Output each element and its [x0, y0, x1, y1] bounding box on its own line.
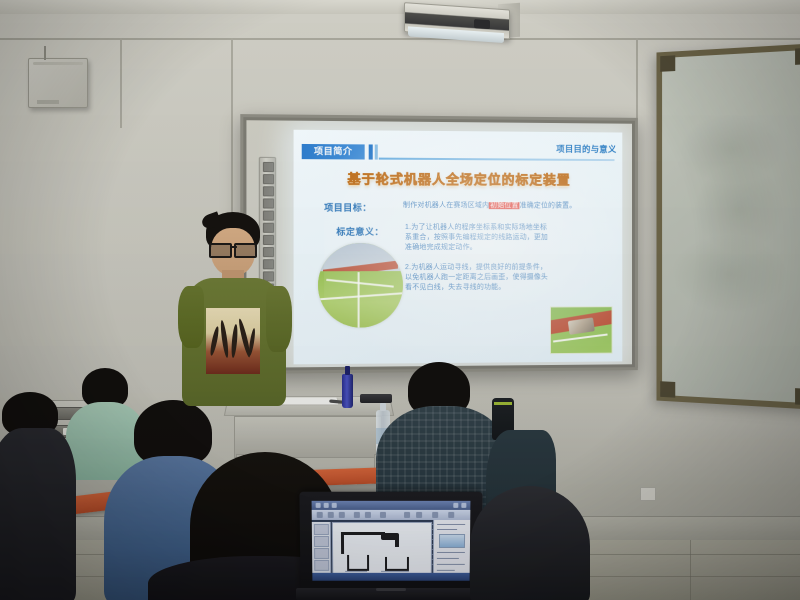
app-title-bar[interactable]: [312, 501, 471, 510]
panel-line: [437, 524, 465, 525]
presenter-right-sleeve: [266, 286, 292, 352]
student-laptop[interactable]: [300, 492, 482, 600]
toolbar-icon[interactable]: [432, 512, 438, 518]
toolbar-icon[interactable]: [448, 512, 454, 518]
diagram-tank-left: [347, 555, 369, 571]
graphic-streak: [219, 320, 229, 358]
wall-whiteboard[interactable]: [656, 43, 800, 409]
toolbar-icon[interactable]: [416, 512, 422, 518]
toolbar-icon[interactable]: [380, 512, 386, 518]
title-bar-button[interactable]: [332, 503, 337, 508]
panel-thumbnail[interactable]: [439, 534, 465, 548]
panel-line: [437, 564, 465, 565]
diagram-pipe-horizontal: [341, 532, 385, 535]
blue-drink-bottle[interactable]: [342, 374, 353, 408]
panel-item[interactable]: [314, 560, 329, 571]
graphic-streak: [231, 324, 239, 358]
slide-section-banner: 项目简介: [302, 144, 365, 160]
slide-goal-text: 制作对机器人在赛场区域内初始位置准确定位的装置。: [403, 201, 613, 212]
presenter: [178, 212, 290, 408]
slide-meaning-point-1: 1.为了让机器人的程序坐标系和实际场地坐标系重合，按照事先编程规定的线路运动，更…: [405, 223, 554, 253]
panel-item[interactable]: [314, 548, 329, 559]
projected-slide: 项目简介 项目目的与意义 基于轮式机器人全场定位的标定装置 项目目标： 制作对机…: [294, 130, 623, 365]
projector-lens: [474, 19, 490, 29]
slide-header-right: 项目目的与意义: [556, 143, 616, 155]
slide-label-meaning: 标定意义：: [336, 225, 384, 238]
slide-meaning-point-2: 2.为机器人运动寻线，提供良好的前提条件，以免机器人跑一定距离之后画歪，使得摄像…: [405, 263, 554, 293]
app-drawing-canvas[interactable]: [332, 522, 432, 576]
speaker-bracket: [44, 46, 46, 60]
panel-line: [437, 552, 465, 553]
presenter-left-sleeve: [178, 286, 204, 348]
classroom-photo: 项目简介 项目目的与意义 基于轮式机器人全场定位的标定装置 项目目标： 制作对机…: [0, 0, 800, 600]
canvas-caption: [381, 571, 409, 572]
title-bar-button[interactable]: [461, 503, 466, 508]
panel-line: [437, 529, 457, 530]
speaker-brand-mark: [37, 100, 59, 104]
whiteboard-smudge: [671, 234, 788, 316]
panel-item[interactable]: [314, 524, 329, 535]
whiteboard-corner: [660, 381, 675, 397]
laptop-screen[interactable]: [312, 501, 471, 581]
goal-text-after: 准确定位的装置。: [520, 202, 577, 209]
slide-field-circle-photo: [318, 243, 403, 328]
title-bar-button[interactable]: [324, 503, 329, 508]
field-line-vertical: [357, 272, 359, 328]
whiteboard-corner: [795, 388, 800, 405]
ceiling: [0, 0, 800, 14]
app-right-panel[interactable]: [433, 520, 470, 580]
faucet-icon: [381, 533, 399, 540]
graphic-streak: [248, 328, 256, 356]
shapes-icon[interactable]: [263, 198, 274, 208]
wall-speaker: [28, 58, 88, 108]
whiteboard-corner: [660, 55, 675, 71]
title-bar-button[interactable]: [316, 503, 321, 508]
laptop-hinge: [376, 588, 406, 591]
toolbar-icon[interactable]: [365, 512, 371, 518]
robot-photo-white-line: [553, 333, 608, 342]
toolbar-icon[interactable]: [328, 512, 334, 518]
flask-stripe: [494, 402, 512, 405]
app-left-panel[interactable]: [312, 522, 331, 578]
pen-icon[interactable]: [263, 174, 274, 184]
laptop-lid: [299, 492, 482, 592]
foreground-student-right: [470, 486, 590, 600]
panel-line: [437, 570, 455, 571]
audience-torso: [0, 428, 76, 600]
audience-member-dark-jacket: [0, 400, 76, 600]
eyeglasses-icon: [209, 243, 257, 254]
toolbar-icon[interactable]: [317, 512, 323, 518]
interactive-whiteboard[interactable]: 项目简介 项目目的与意义 基于轮式机器人全场定位的标定装置 项目目标： 制作对机…: [240, 114, 638, 374]
os-taskbar[interactable]: [312, 573, 469, 581]
panel-item[interactable]: [314, 536, 329, 547]
ceiling-projector: [404, 0, 514, 46]
wall-seam-vertical-1: [120, 38, 122, 128]
iwb-surface[interactable]: 项目简介 项目目的与意义 基于轮式机器人全场定位的标定装置 项目目标： 制作对机…: [246, 120, 632, 368]
slide-banner-accent-2: [375, 145, 378, 160]
floor-tile-line: [690, 540, 691, 600]
toolbar-icon[interactable]: [404, 512, 410, 518]
diagram-pipe-vertical: [341, 532, 344, 554]
eyeglass-lens-left: [209, 243, 232, 258]
graphic-streak: [209, 326, 220, 356]
slide-robot-photo: [550, 306, 613, 354]
eraser-icon[interactable]: [263, 186, 274, 196]
robot-photo-robot: [568, 317, 595, 334]
panel-line: [437, 558, 459, 559]
slide-wordart-title: 基于轮式机器人全场定位的标定装置: [294, 168, 623, 189]
slide-banner-accent-1: [369, 144, 373, 159]
toolbar-icon[interactable]: [354, 512, 360, 518]
slide-header-rule: [379, 158, 615, 161]
wall-socket: [640, 487, 656, 501]
goal-text-highlight: 初始位置: [489, 202, 519, 209]
eyeglass-lens-right: [234, 243, 257, 258]
goal-text-before: 制作对机器人在赛场区域内: [403, 202, 489, 209]
whiteboard-corner: [795, 48, 800, 65]
slide-label-goal: 项目目标：: [324, 201, 372, 214]
whiteboard-surface[interactable]: [662, 50, 800, 403]
tshirt-graphic-print: [206, 308, 260, 374]
toolbar-icon[interactable]: [339, 512, 345, 518]
canvas-caption: [345, 571, 367, 572]
app-toolbar[interactable]: [312, 510, 471, 520]
pointer-icon[interactable]: [263, 162, 274, 172]
diagram-tank-right: [385, 557, 409, 571]
title-bar-button[interactable]: [453, 503, 458, 508]
